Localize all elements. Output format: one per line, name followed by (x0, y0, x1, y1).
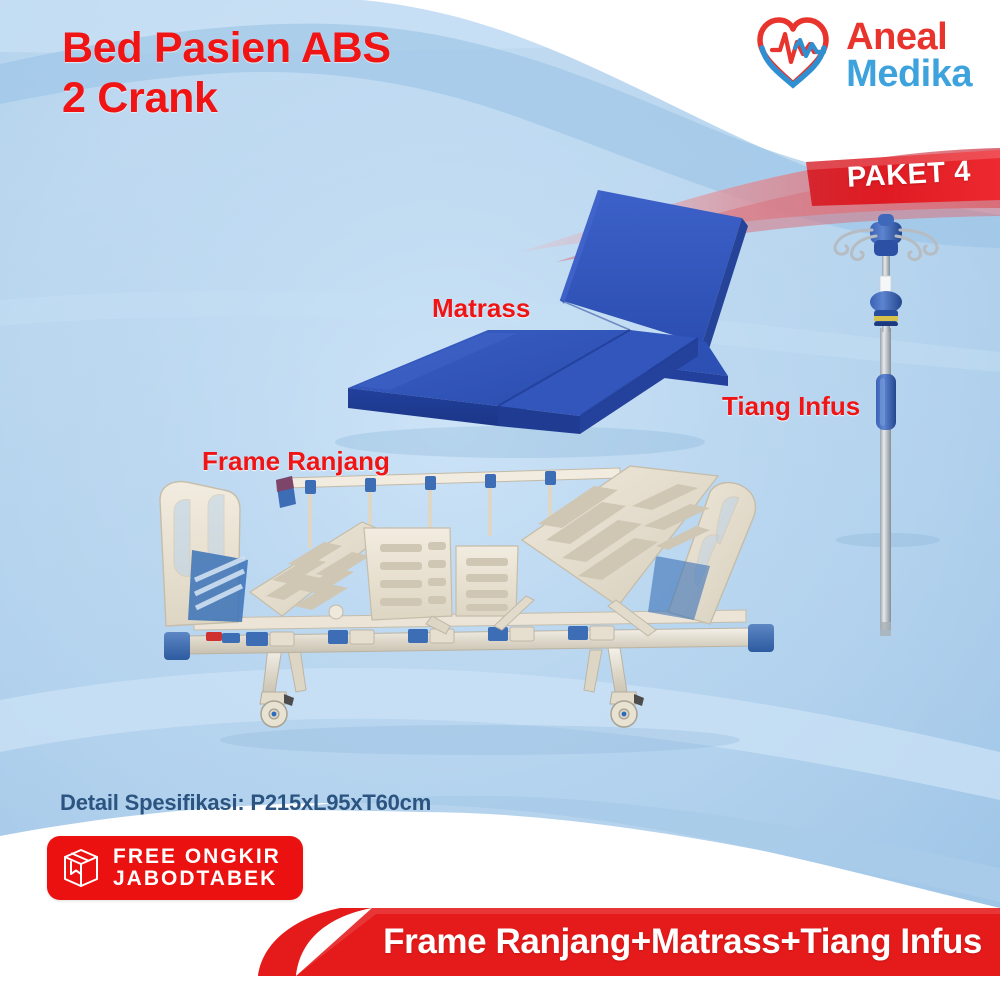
free-shipping-text: FREE ONGKIR JABODTABEK (113, 846, 281, 891)
mattress-illustration (330, 180, 750, 470)
iv-pole-illustration (800, 210, 990, 640)
brand-wordmark: Aneal Medika (846, 19, 972, 92)
specification-text: Detail Spesifikasi: P215xL95xT60cm (60, 790, 431, 816)
brand-logo: Aneal Medika (750, 14, 972, 97)
brand-name-top: Aneal (846, 19, 972, 55)
paket-badge-label: PAKET 4 (832, 155, 971, 195)
callout-matrass: Matrass (432, 293, 530, 324)
hospital-bed-illustration (150, 440, 800, 760)
callout-tiang-infus: Tiang Infus (722, 391, 860, 422)
free-shipping-line1: FREE ONGKIR (113, 846, 281, 868)
paket-badge: PAKET 4 (804, 150, 1000, 200)
bottom-banner: Frame Ranjang+Matrass+Tiang Infus (0, 908, 1000, 976)
package-box-icon (59, 843, 103, 894)
bottom-banner-text: Frame Ranjang+Matrass+Tiang Infus (383, 922, 982, 962)
free-shipping-line2: JABODTABEK (113, 868, 281, 890)
free-shipping-badge: FREE ONGKIR JABODTABEK (47, 836, 303, 900)
heart-pulse-icon (750, 14, 836, 97)
callout-frame-ranjang: Frame Ranjang (202, 446, 390, 477)
brand-name-bottom: Medika (846, 56, 972, 92)
page-title: Bed Pasien ABS 2 Crank (62, 24, 391, 124)
poster-canvas: Bed Pasien ABS 2 Crank Aneal Medika PAKE… (0, 0, 1000, 1000)
